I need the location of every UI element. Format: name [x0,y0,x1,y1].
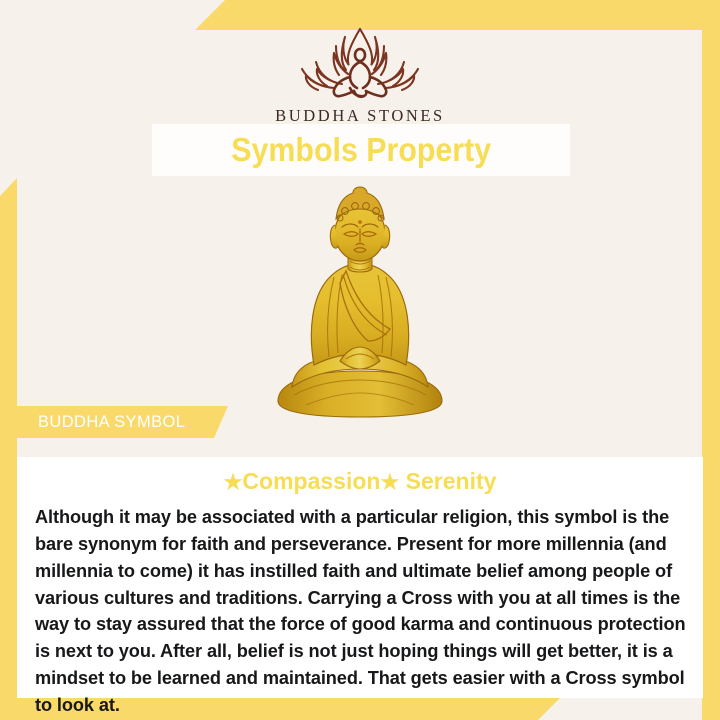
content-subheading: ★Compassion★ Serenity [17,468,703,495]
star-icon-2: ★ [380,471,399,494]
subheading-serenity: Serenity [406,468,497,494]
brand-header: BUDDHA STONES [0,24,720,126]
content-card: ★Compassion★ Serenity Although it may be… [17,457,703,698]
brand-wordmark: BUDDHA STONES [0,106,720,126]
lotus-meditation-logo-icon [280,24,440,102]
golden-seated-buddha-illustration-icon [250,179,470,421]
subheading-compassion: Compassion [242,468,380,494]
page-title: Symbols Property [231,131,491,169]
buddha-symbol-ribbon: BUDDHA SYMBOL [17,406,228,438]
content-body-text: Although it may be associated with a par… [35,504,687,719]
star-icon-1: ★ [224,471,243,494]
title-banner: Symbols Property [152,124,570,176]
buddha-symbol-ribbon-label: BUDDHA SYMBOL [17,413,185,432]
hero-image-container [0,176,720,421]
infographic-root: BUDDHA STONES Symbols Property [0,0,720,720]
